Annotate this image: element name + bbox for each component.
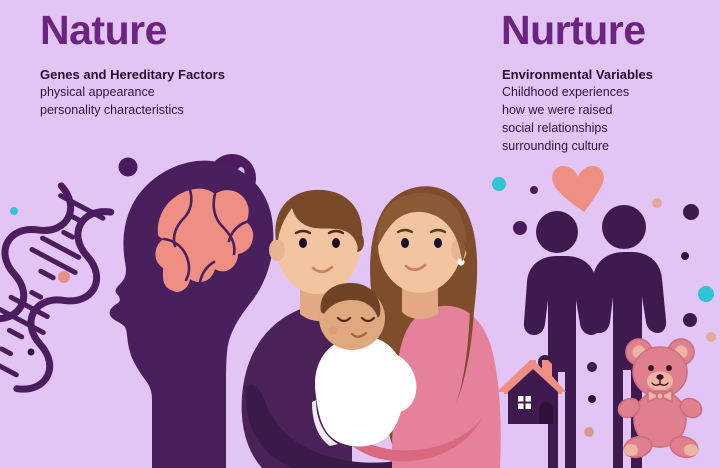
nurture-text-block: Environmental Variables Childhood experi…	[502, 66, 653, 155]
nature-text-block: Genes and Hereditary Factors physical ap…	[40, 66, 225, 120]
nature-subtitle: Genes and Hereditary Factors	[40, 66, 225, 83]
nature-line-2: personality characteristics	[40, 102, 225, 120]
nurture-line-4: surrounding culture	[502, 138, 653, 156]
nurture-line-3: social relationships	[502, 120, 653, 138]
page-title-nature: Nature	[40, 10, 167, 51]
nurture-line-2: how we were raised	[502, 102, 653, 120]
infographic-poster: Nature Genes and Hereditary Factors phys…	[0, 0, 720, 468]
nurture-subtitle: Environmental Variables	[502, 66, 653, 83]
page-title-nurture: Nurture	[501, 10, 646, 51]
nurture-line-1: Childhood experiences	[502, 84, 653, 102]
nature-line-1: physical appearance	[40, 84, 225, 102]
